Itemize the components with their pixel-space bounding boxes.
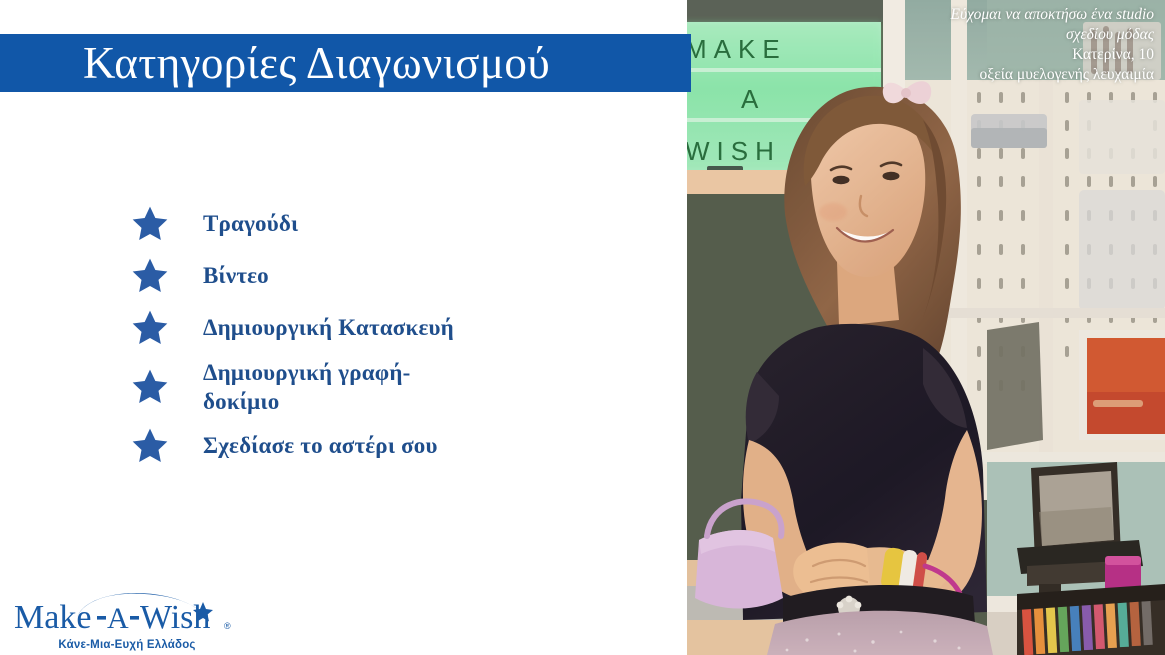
caption-line-1: Εύχομαι να αποκτήσω ένα studio [814,5,1154,25]
list-item-label: Βίντεο [203,261,269,290]
svg-text:Wish: Wish [140,599,210,636]
list-item-label: Τραγούδι [203,209,298,238]
svg-text:Make: Make [14,599,91,636]
caption-line-4: οξεία μυελογενής λευχαιμία [814,65,1154,85]
list-item[interactable]: Σχεδίασε το αστέρι σου [130,420,650,472]
slide-title-banner: Κατηγορίες Διαγωνισμού [0,34,691,92]
star-icon [130,308,170,348]
list-item[interactable]: Βίντεο [130,250,650,302]
list-item-label: Σχεδίασε το αστέρι σου [203,431,438,460]
svg-text:A: A [107,602,129,635]
logo-tagline: Κάνε-Μια-Ευχή Ελλάδος [13,639,241,651]
list-item[interactable]: Δημιουργική γραφή- δοκίμιο [130,354,650,420]
svg-text:®: ® [224,621,231,631]
star-icon [130,204,170,244]
list-item-label: Δημιουργική Κατασκευή [203,313,454,342]
presentation-slide: MAKE A WISH [0,0,1165,655]
star-icon [130,426,170,466]
page-title: Κατηγορίες Διαγωνισμού [0,41,550,86]
wish-child-photo: MAKE A WISH [687,0,1165,655]
caption-line-2: σχεδίου μόδας [814,25,1154,45]
star-icon [130,256,170,296]
list-item-label: Δημιουργική γραφή- δοκίμιο [203,358,410,417]
list-item[interactable]: Δημιουργική Κατασκευή [130,302,650,354]
wish-caption: Εύχομαι να αποκτήσω ένα studio σχεδίου μ… [814,5,1154,86]
list-item[interactable]: Τραγούδι [130,198,650,250]
logo-wordmark: Make A Wish ® [13,590,241,638]
make-a-wish-logo: Make A Wish ® Κάνε-Μια-Ευχή Ελλάδος [13,590,241,651]
caption-line-3: Κατερίνα, 10 [814,45,1154,65]
category-list: Τραγούδι Βίντεο Δημιουργική Κατασκευή Δη… [130,198,650,472]
star-icon [130,367,170,407]
